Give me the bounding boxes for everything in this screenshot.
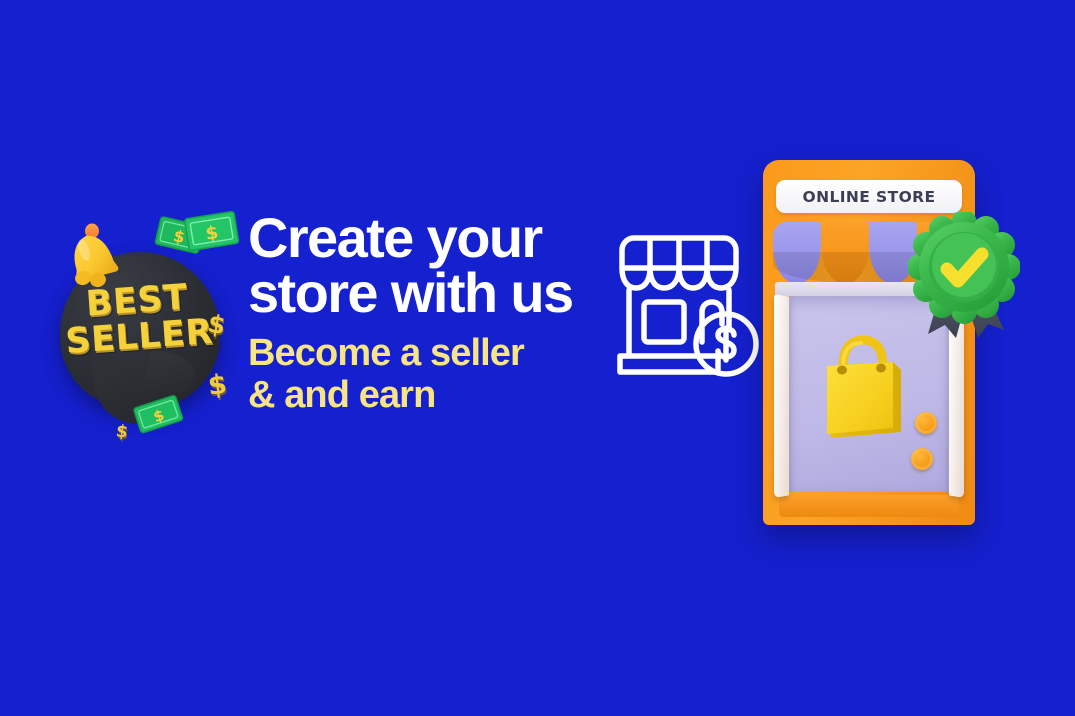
page-title: Create your store with us: [248, 210, 648, 321]
storefront-line-icon: [606, 212, 766, 384]
store-sign-label: ONLINE STORE: [803, 188, 936, 206]
best-seller-badge: $ $ $ $ $ $ BEST SELLER: [48, 222, 248, 462]
verified-rosette-icon: [908, 212, 1020, 342]
coin-icon: [911, 448, 933, 470]
bell-icon: [65, 222, 127, 288]
page-subtitle: Become a seller & and earn: [248, 333, 648, 417]
awning-stripe: [773, 222, 821, 284]
awning-stripe: [821, 222, 869, 284]
store-floor: [779, 495, 959, 517]
best-seller-label: BEST SELLER: [46, 278, 230, 361]
shopping-bag-icon: [817, 332, 913, 444]
store-sign: ONLINE STORE: [776, 180, 962, 213]
coin-icon: [915, 412, 937, 434]
store-door-left: [774, 294, 789, 498]
money-note-icon: $: [183, 210, 240, 257]
promo-text-block: Create your store with us Become a selle…: [248, 210, 648, 416]
promo-banner: $ $ $ $ $ $ BEST SELLER Create your st: [0, 0, 1075, 716]
dollar-sign-glyph: $: [115, 421, 130, 442]
dollar-sign-glyph: $: [206, 369, 228, 402]
